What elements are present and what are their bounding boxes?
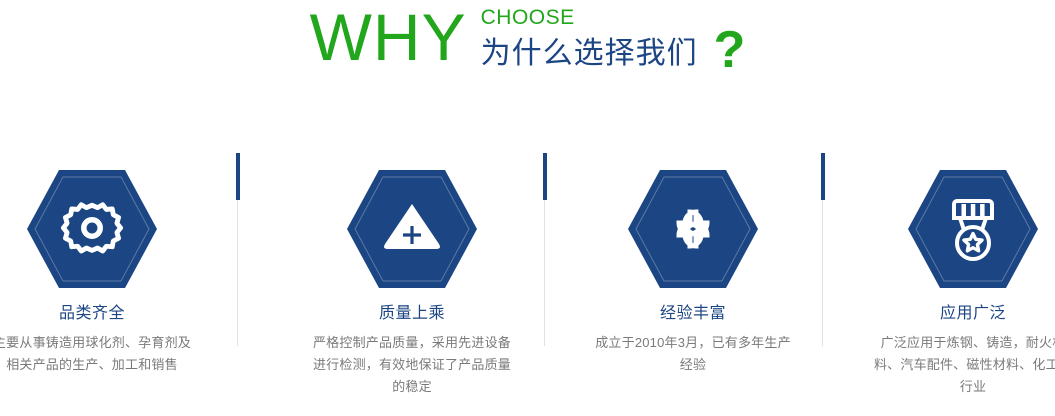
feature-card-2[interactable]: 质量上乘 严格控制产品质量，采用先进设备进行检测，有效地保证了产品质量的稳定 bbox=[296, 140, 528, 398]
heading-choose-word: CHOOSE bbox=[481, 6, 746, 30]
section-heading: WHY CHOOSE 为什么选择我们 ? bbox=[0, 0, 1055, 100]
card-description: 主要从事铸造用球化剂、孕育剂及相关产品的生产、加工和销售 bbox=[0, 332, 208, 376]
card-description: 广泛应用于炼钢、铸造，耐火材料、汽车配件、磁性材料、化工等行业 bbox=[857, 332, 1055, 398]
feature-card-4[interactable]: 应用广泛 广泛应用于炼钢、铸造，耐火材料、汽车配件、磁性材料、化工等行业 bbox=[857, 140, 1055, 398]
heading-text-stack: CHOOSE 为什么选择我们 ? bbox=[481, 2, 746, 76]
hexagon-wrapper bbox=[857, 140, 1055, 290]
card-description: 成立于2010年3月，已有多年生产经验 bbox=[577, 332, 809, 376]
heading-inner: WHY CHOOSE 为什么选择我们 ? bbox=[310, 0, 746, 76]
card-title: 应用广泛 bbox=[857, 304, 1055, 324]
hexagon-badge bbox=[627, 168, 759, 290]
hexagon-wrapper bbox=[577, 140, 809, 290]
heading-chinese-row: 为什么选择我们 ? bbox=[481, 32, 746, 76]
card-title: 质量上乘 bbox=[296, 304, 528, 324]
heading-question-mark: ? bbox=[714, 28, 746, 72]
hexagon-wrapper bbox=[296, 140, 528, 290]
hexagon-badge bbox=[907, 168, 1039, 290]
card-description: 严格控制产品质量，采用先进设备进行检测，有效地保证了产品质量的稳定 bbox=[296, 332, 528, 398]
feature-cards: 品类齐全 主要从事铸造用球化剂、孕育剂及相关产品的生产、加工和销售 质量上乘 严… bbox=[0, 140, 1055, 416]
hexagon-badge bbox=[346, 168, 478, 290]
feature-card-1[interactable]: 品类齐全 主要从事铸造用球化剂、孕育剂及相关产品的生产、加工和销售 bbox=[0, 140, 208, 376]
hexagon-wrapper bbox=[0, 140, 208, 290]
card-title: 经验丰富 bbox=[577, 304, 809, 324]
heading-chinese-title: 为什么选择我们 bbox=[481, 36, 698, 72]
feature-card-3[interactable]: 经验丰富 成立于2010年3月，已有多年生产经验 bbox=[577, 140, 809, 376]
card-title: 品类齐全 bbox=[0, 304, 208, 324]
hexagon-badge bbox=[26, 168, 158, 290]
heading-why-word: WHY bbox=[310, 2, 467, 72]
